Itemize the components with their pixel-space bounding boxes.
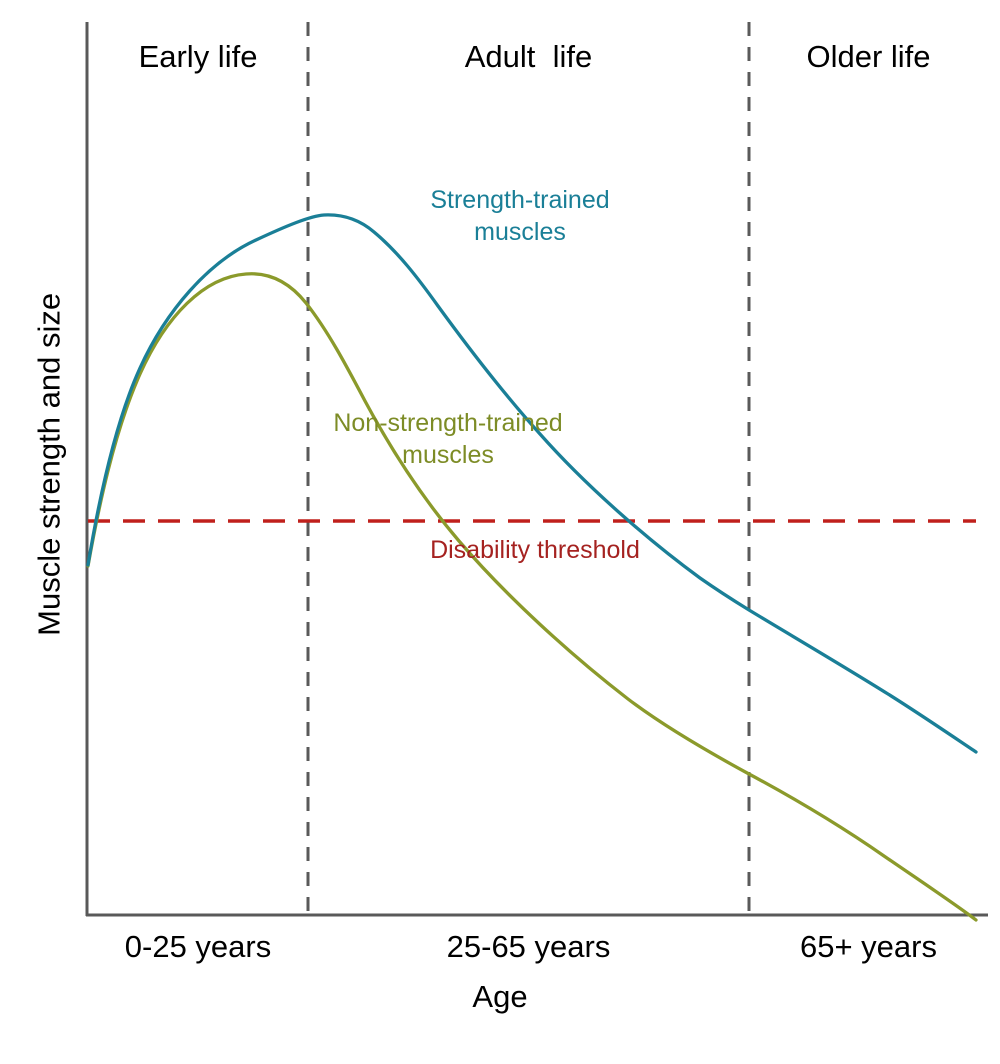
phase-label-early-life: Early life — [88, 40, 308, 75]
x-tick-label-0-25-years: 0-25 years — [88, 930, 308, 965]
chart-canvas — [0, 0, 1000, 1064]
phase-label-older-life: Older life — [749, 40, 988, 75]
y-axis-title: Muscle strength and size — [33, 254, 68, 674]
plot-area-background — [86, 22, 976, 916]
series-label-strength-trained-line2: muscles — [400, 218, 640, 246]
series-label-non-strength-trained-line2: muscles — [318, 441, 578, 469]
x-axis-title: Age — [380, 980, 620, 1015]
series-label-strength-trained-line1: Strength-trained — [400, 186, 640, 214]
phase-label-adult-life: Adult life — [308, 40, 749, 75]
chart-figure: Early life Adult life Older life Strengt… — [0, 0, 1000, 1064]
series-label-non-strength-trained-line1: Non-strength-trained — [318, 409, 578, 437]
disability-threshold-label: Disability threshold — [400, 536, 670, 564]
x-tick-label-65-plus-years: 65+ years — [749, 930, 988, 965]
x-tick-label-25-65-years: 25-65 years — [308, 930, 749, 965]
